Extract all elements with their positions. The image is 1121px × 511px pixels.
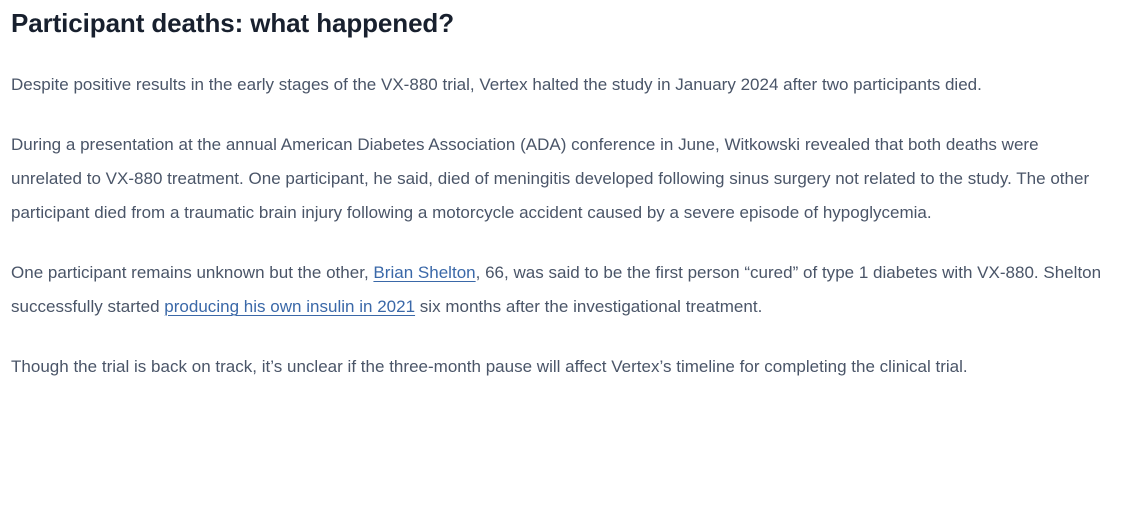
link-brian-shelton[interactable]: Brian Shelton: [373, 263, 475, 282]
article-body: Participant deaths: what happened? Despi…: [0, 0, 1121, 384]
paragraph-trial-timeline: Though the trial is back on track, it’s …: [11, 324, 1110, 384]
paragraph-brian-shelton: One participant remains unknown but the …: [11, 230, 1110, 324]
link-producing-his-own-insulin-in-2021[interactable]: producing his own insulin in 2021: [164, 297, 415, 316]
paragraph-text-after-link: six months after the investigational tre…: [415, 297, 762, 316]
paragraph-intro: Despite positive results in the early st…: [11, 40, 1110, 102]
page-title: Participant deaths: what happened?: [11, 0, 1110, 40]
paragraph-text-before-link: One participant remains unknown but the …: [11, 263, 373, 282]
paragraph-ada-presentation: During a presentation at the annual Amer…: [11, 102, 1110, 230]
